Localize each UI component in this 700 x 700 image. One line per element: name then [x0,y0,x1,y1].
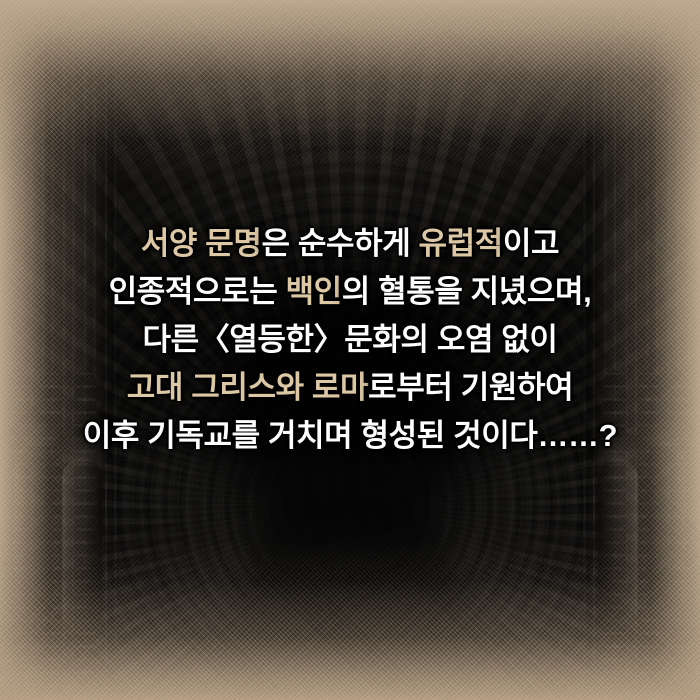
caption-line-5: 이후 기독교를 거치며 형성된 것이다……? [0,420,700,451]
caption-line-1: 서양 문명은 순수하게 유럽적이고 [0,228,700,259]
caption-highlight-text: 유럽적 [419,226,503,261]
caption-line-2: 인종적으로는 백인의 혈통을 지녔으며, [0,276,700,307]
image-canvas: 서양 문명은 순수하게 유럽적이고인종적으로는 백인의 혈통을 지녔으며,다른〈… [0,0,700,700]
caption-plain-text: 이고 [503,226,559,261]
caption-plain-text: 인종적으로는 [109,274,286,309]
caption-highlight-text: 서양 문명 [141,226,262,261]
caption-plain-text: 의 혈통을 지녔으며, [342,274,592,309]
caption-block: 서양 문명은 순수하게 유럽적이고인종적으로는 백인의 혈통을 지녔으며,다른〈… [0,228,700,451]
caption-highlight-text: 백인 [286,274,342,309]
caption-line-3: 다른〈열등한〉문화의 오염 없이 [0,324,700,355]
caption-plain-text: 은 순수하게 [262,226,419,261]
caption-plain-text: 로부터 기원하여 [368,370,573,405]
caption-plain-text: 이후 기독교를 거치며 형성된 것이다……? [83,418,617,453]
caption-line-4: 고대 그리스와 로마로부터 기원하여 [0,372,700,403]
caption-plain-text: 다른〈열등한〉문화의 오염 없이 [142,322,557,357]
caption-highlight-text: 고대 그리스와 로마 [127,370,368,405]
